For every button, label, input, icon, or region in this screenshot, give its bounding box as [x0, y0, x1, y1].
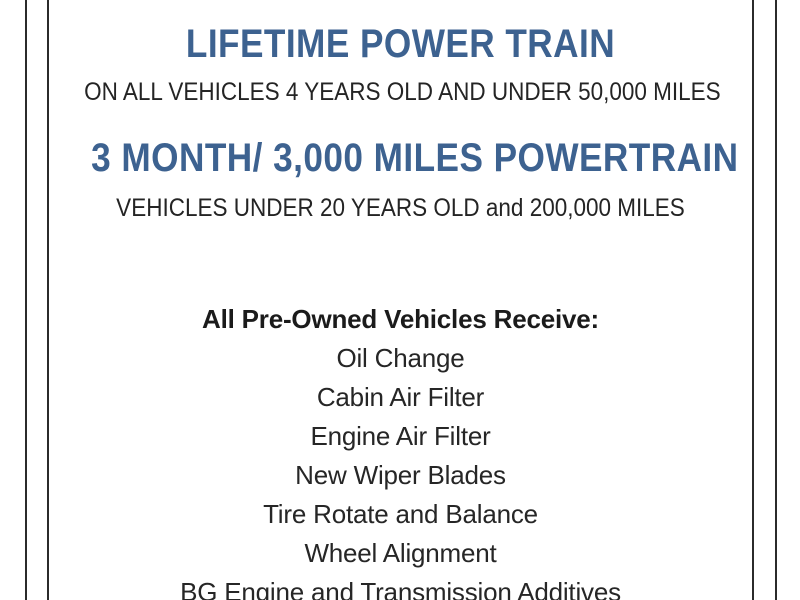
- warranty-subtitle-three-month: VEHICLES UNDER 20 YEARS OLD and 200,000 …: [84, 196, 717, 221]
- warranty-block-three-month: 3 MONTH/ 3,000 MILES POWERTRAIN VEHICLES…: [49, 138, 752, 221]
- border-rule-left-outer: [25, 0, 27, 600]
- warranty-title-lifetime: LIFETIME POWER TRAIN: [91, 24, 710, 64]
- services-section: All Pre-Owned Vehicles Receive: Oil Chan…: [49, 300, 752, 600]
- services-heading: All Pre-Owned Vehicles Receive:: [49, 300, 752, 339]
- service-list-item: New Wiper Blades: [49, 456, 752, 495]
- flyer-page: LIFETIME POWER TRAIN ON ALL VEHICLES 4 Y…: [0, 0, 800, 600]
- service-list-item: Cabin Air Filter: [49, 378, 752, 417]
- service-list-item: Tire Rotate and Balance: [49, 495, 752, 534]
- warranty-title-three-month: 3 MONTH/ 3,000 MILES POWERTRAIN: [91, 138, 710, 178]
- service-list-item: BG Engine and Transmission Additives: [49, 573, 752, 600]
- service-list-item: Wheel Alignment: [49, 534, 752, 573]
- service-list-item: Oil Change: [49, 339, 752, 378]
- service-list-item: Engine Air Filter: [49, 417, 752, 456]
- services-list: Oil ChangeCabin Air FilterEngine Air Fil…: [49, 339, 752, 600]
- flyer-content: LIFETIME POWER TRAIN ON ALL VEHICLES 4 Y…: [49, 0, 752, 600]
- warranty-block-lifetime: LIFETIME POWER TRAIN ON ALL VEHICLES 4 Y…: [49, 24, 752, 105]
- border-rule-right-inner: [752, 0, 754, 600]
- warranty-subtitle-lifetime: ON ALL VEHICLES 4 YEARS OLD AND UNDER 50…: [84, 80, 717, 105]
- border-rule-right-outer: [775, 0, 777, 600]
